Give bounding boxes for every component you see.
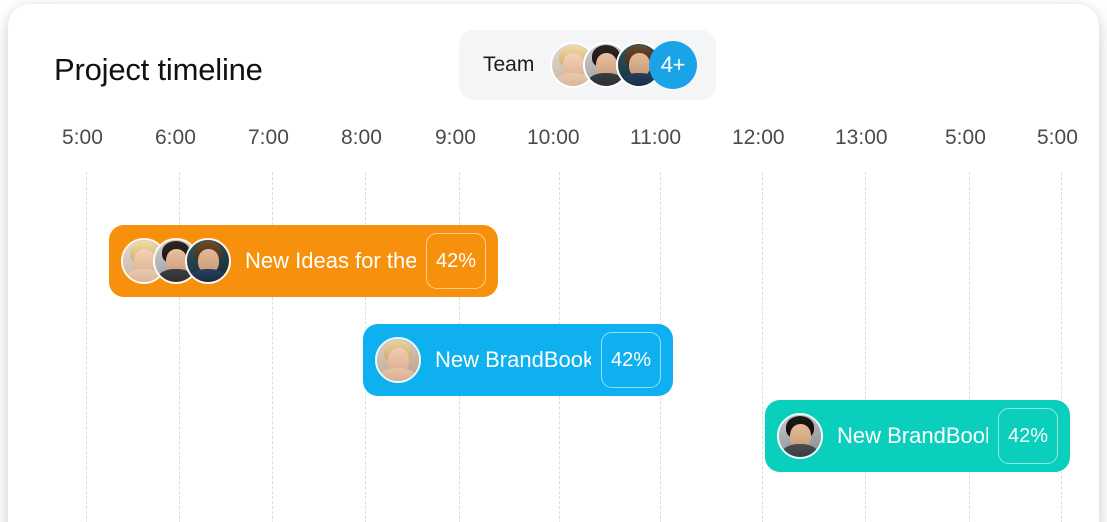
task-bar-new-brandbook-teal[interactable]: New BrandBook42% [765, 400, 1070, 472]
task-bars: New Ideas for the…42%New BrandBook42%New… [8, 4, 1099, 522]
task-title: New BrandBook [837, 423, 988, 449]
task-progress-badge: 42% [601, 332, 661, 388]
timeline-card: Project timeline Team 4+ 5:006:007:008:0… [8, 4, 1099, 522]
avatar-task1-3 [185, 238, 231, 284]
task-progress-badge: 42% [998, 408, 1058, 464]
task-avatar-stack [121, 238, 231, 284]
avatar-task2-1 [375, 337, 421, 383]
task-avatar-stack [777, 413, 823, 459]
screenshot-root: Project timeline Team 4+ 5:006:007:008:0… [0, 0, 1107, 522]
task-title: New BrandBook [435, 347, 591, 373]
task-title: New Ideas for the… [245, 248, 416, 274]
task-bar-new-brandbook-blue[interactable]: New BrandBook42% [363, 324, 673, 396]
task-progress-badge: 42% [426, 233, 486, 289]
task-bar-new-ideas[interactable]: New Ideas for the…42% [109, 225, 498, 297]
avatar-task3-1 [777, 413, 823, 459]
task-avatar-stack [375, 337, 421, 383]
